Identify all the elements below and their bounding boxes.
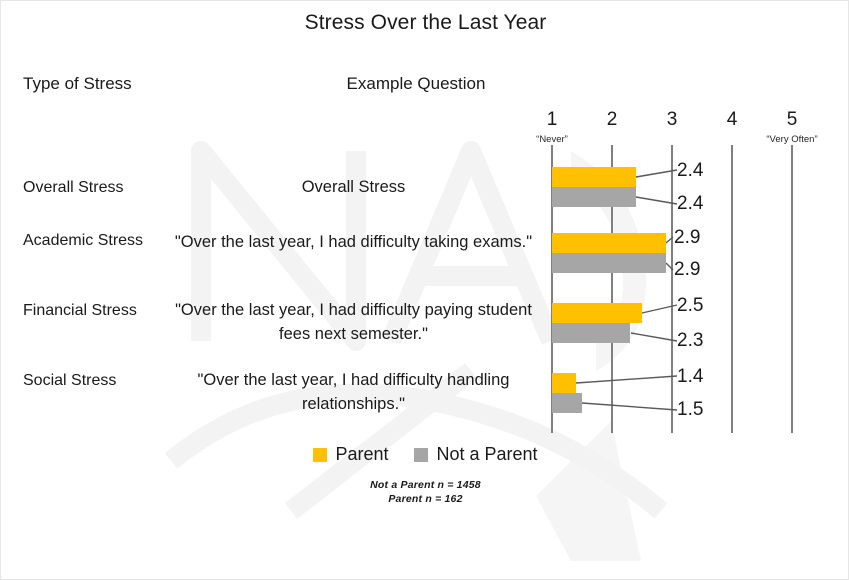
chart-legend: Parent Not a Parent — [1, 444, 849, 465]
page-title: Stress Over the Last Year — [1, 11, 849, 35]
value-label-parent-financial: 2.5 — [677, 295, 703, 317]
axis-tick-3: 3 — [652, 109, 692, 131]
axis-sublabel-very-often: “Very Often” — [747, 134, 837, 145]
value-label-parent-overall: 2.4 — [677, 160, 703, 182]
legend-label-not-parent: Not a Parent — [436, 444, 537, 465]
legend-item-parent[interactable]: Parent — [313, 444, 388, 465]
column-header-type-of-stress: Type of Stress — [23, 74, 132, 94]
axis-tick-2: 2 — [592, 109, 632, 131]
legend-label-parent: Parent — [335, 444, 388, 465]
value-label-parent-academic: 2.9 — [674, 227, 700, 249]
axis-tick-4: 4 — [712, 109, 752, 131]
axis-sublabel-never: “Never” — [507, 134, 597, 145]
axis-tick-5: 5 — [772, 109, 812, 131]
value-label-not-parent-overall: 2.4 — [677, 193, 703, 215]
row-question-academic: "Over the last year, I had difficulty ta… — [161, 231, 546, 255]
bar-not-parent-financial — [552, 323, 630, 343]
chart-footnotes: Not a Parent n = 1458 Parent n = 162 — [1, 478, 849, 506]
value-label-not-parent-academic: 2.9 — [674, 259, 700, 281]
bar-parent-financial — [552, 303, 642, 323]
row-question-social: "Over the last year, I had difficulty ha… — [161, 369, 546, 417]
value-label-parent-social: 1.4 — [677, 366, 703, 388]
footnote-not-parent-n: Not a Parent n = 1458 — [1, 478, 849, 492]
legend-swatch-not-parent-icon — [414, 448, 428, 462]
footnote-parent-n: Parent n = 162 — [1, 492, 849, 506]
row-type-label-financial: Financial Stress — [23, 299, 183, 324]
bar-not-parent-social — [552, 393, 582, 413]
axis-tick-1: 1 — [532, 109, 572, 131]
row-question-financial: "Over the last year, I had difficulty pa… — [161, 299, 546, 347]
row-question-overall: Overall Stress — [161, 176, 546, 200]
value-label-not-parent-financial: 2.3 — [677, 330, 703, 352]
bar-parent-overall — [552, 167, 636, 187]
column-header-example-question: Example Question — [251, 74, 581, 94]
value-label-not-parent-social: 1.5 — [677, 399, 703, 421]
row-type-label-academic: Academic Stress — [23, 229, 183, 254]
legend-item-not-parent[interactable]: Not a Parent — [414, 444, 537, 465]
bar-parent-academic — [552, 233, 666, 253]
chart-slide: Stress Over the Last Year Type of Stress… — [0, 0, 849, 580]
legend-swatch-parent-icon — [313, 448, 327, 462]
bar-parent-social — [552, 373, 576, 393]
bar-not-parent-academic — [552, 253, 666, 273]
bar-not-parent-overall — [552, 187, 636, 207]
row-type-label-social: Social Stress — [23, 369, 183, 394]
row-type-label-overall: Overall Stress — [23, 176, 183, 201]
